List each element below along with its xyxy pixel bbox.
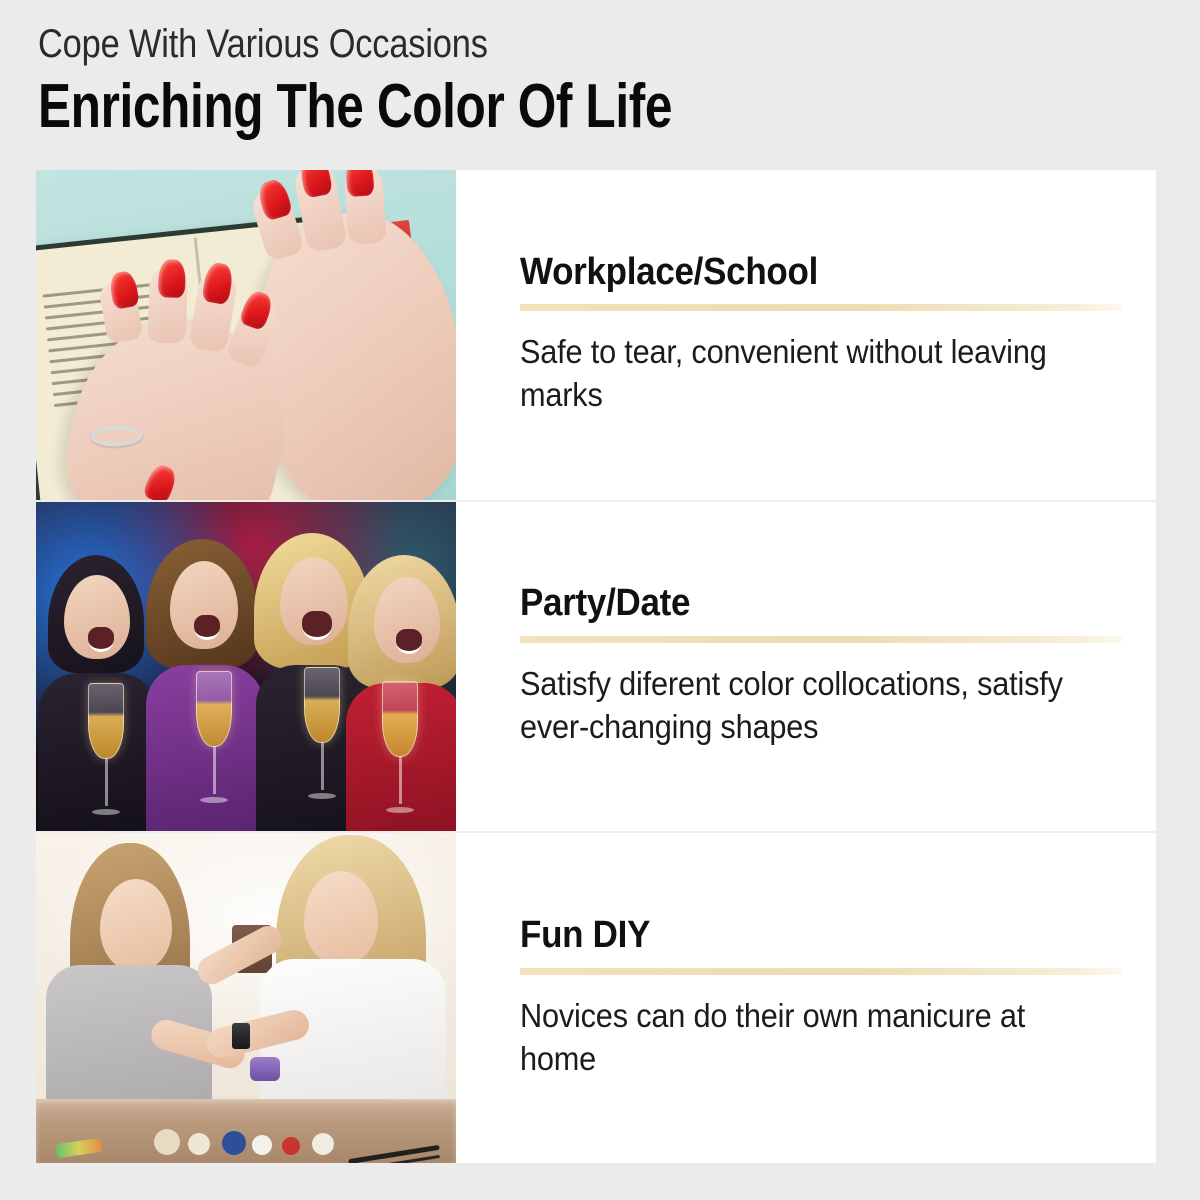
occasion-content-diy: Fun DIY Novices can do their own manicur…	[456, 833, 1176, 1163]
occasion-row-workplace: PARTIE IIDescription	[36, 170, 1156, 500]
occasion-image-diy	[36, 833, 456, 1163]
occasion-row-party: Party/Date Satisfy diferent color colloc…	[36, 500, 1156, 832]
occasion-description-workplace: Safe to tear, convenient without leaving…	[520, 331, 1080, 417]
page-title: Enriching The Color Of Life	[38, 76, 934, 138]
supply-item	[222, 1131, 246, 1155]
supply-item	[312, 1133, 334, 1155]
occasion-content-workplace: Workplace/School Safe to tear, convenien…	[456, 170, 1176, 500]
champagne-glass	[382, 681, 418, 757]
champagne-glass	[196, 671, 232, 747]
diy-person-left	[42, 837, 222, 1127]
title-underline-rule	[520, 968, 1122, 975]
occasions-card: PARTIE IIDescription	[36, 170, 1156, 1163]
supply-item	[188, 1133, 210, 1155]
occasion-description-diy: Novices can do their own manicure at hom…	[520, 995, 1080, 1081]
page-header: Cope With Various Occasions Enriching Th…	[38, 24, 1158, 138]
supply-item	[154, 1129, 180, 1155]
champagne-glass	[88, 683, 124, 759]
finger-ring-graphic	[90, 425, 143, 448]
title-underline-rule	[520, 304, 1122, 311]
occasion-title-diy: Fun DIY	[520, 916, 1074, 956]
occasion-content-party: Party/Date Satisfy diferent color colloc…	[456, 502, 1176, 832]
supply-item	[282, 1137, 300, 1155]
nail-polish-bottle	[250, 1057, 280, 1081]
occasion-title-party: Party/Date	[520, 584, 1074, 624]
party-person-4	[346, 531, 456, 831]
occasion-image-party	[36, 502, 456, 832]
occasion-title-workplace: Workplace/School	[520, 253, 1074, 293]
occasion-description-party: Satisfy diferent color collocations, sat…	[520, 663, 1080, 749]
title-underline-rule	[520, 636, 1122, 643]
nail-polish-bottle	[232, 1023, 250, 1049]
header-subtitle: Cope With Various Occasions	[38, 24, 1001, 64]
diy-person-right	[252, 833, 452, 1129]
occasion-image-workplace: PARTIE IIDescription	[36, 170, 456, 500]
infographic-page: Cope With Various Occasions Enriching Th…	[0, 0, 1200, 1200]
champagne-glass	[304, 667, 340, 743]
supply-item	[252, 1135, 272, 1155]
occasion-row-diy: Fun DIY Novices can do their own manicur…	[36, 831, 1156, 1163]
party-person-2	[140, 521, 266, 831]
